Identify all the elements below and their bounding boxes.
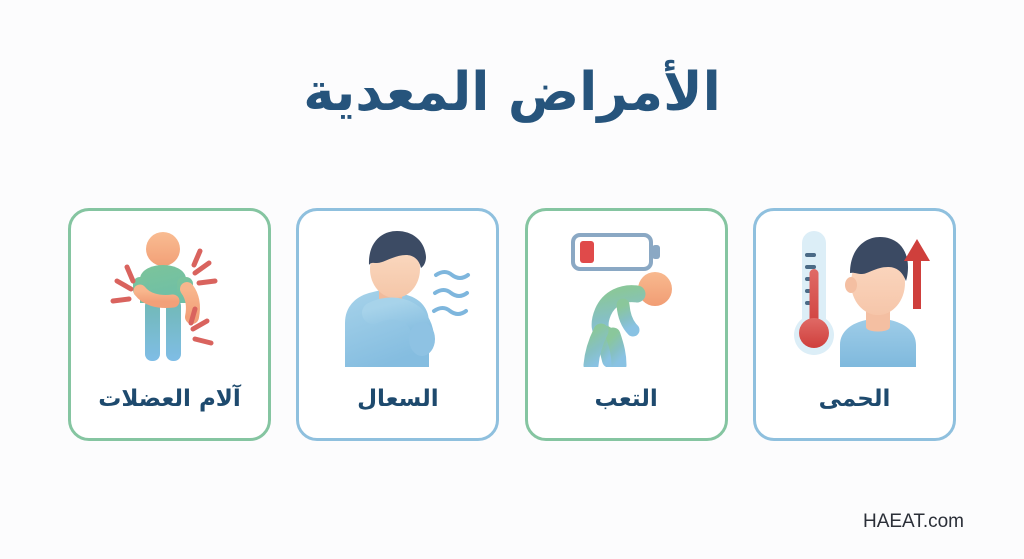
symptom-card-fatigue[interactable]: التعب xyxy=(525,208,728,441)
site-watermark: HAEAT.com xyxy=(863,511,964,533)
symptom-card-label: الحمى xyxy=(756,386,953,412)
symptom-card-cough[interactable]: السعال xyxy=(296,208,499,441)
page-title: الأمراض المعدية xyxy=(0,63,1024,124)
symptom-card-row: الحمى xyxy=(68,208,956,441)
symptom-card-label: التعب xyxy=(528,386,725,412)
fever-thermometer-person-icon xyxy=(780,227,930,367)
symptom-card-fever[interactable]: الحمى xyxy=(753,208,956,441)
symptom-card-label: آلام العضلات xyxy=(71,386,268,412)
symptom-card-label: السعال xyxy=(299,386,496,412)
infographic-page: الأمراض المعدية xyxy=(0,0,1024,559)
muscle-pain-person-icon xyxy=(95,227,245,367)
fatigue-low-battery-person-icon xyxy=(551,227,701,367)
cough-person-icon xyxy=(323,227,473,367)
symptom-card-muscle-pain[interactable]: آلام العضلات xyxy=(68,208,271,441)
